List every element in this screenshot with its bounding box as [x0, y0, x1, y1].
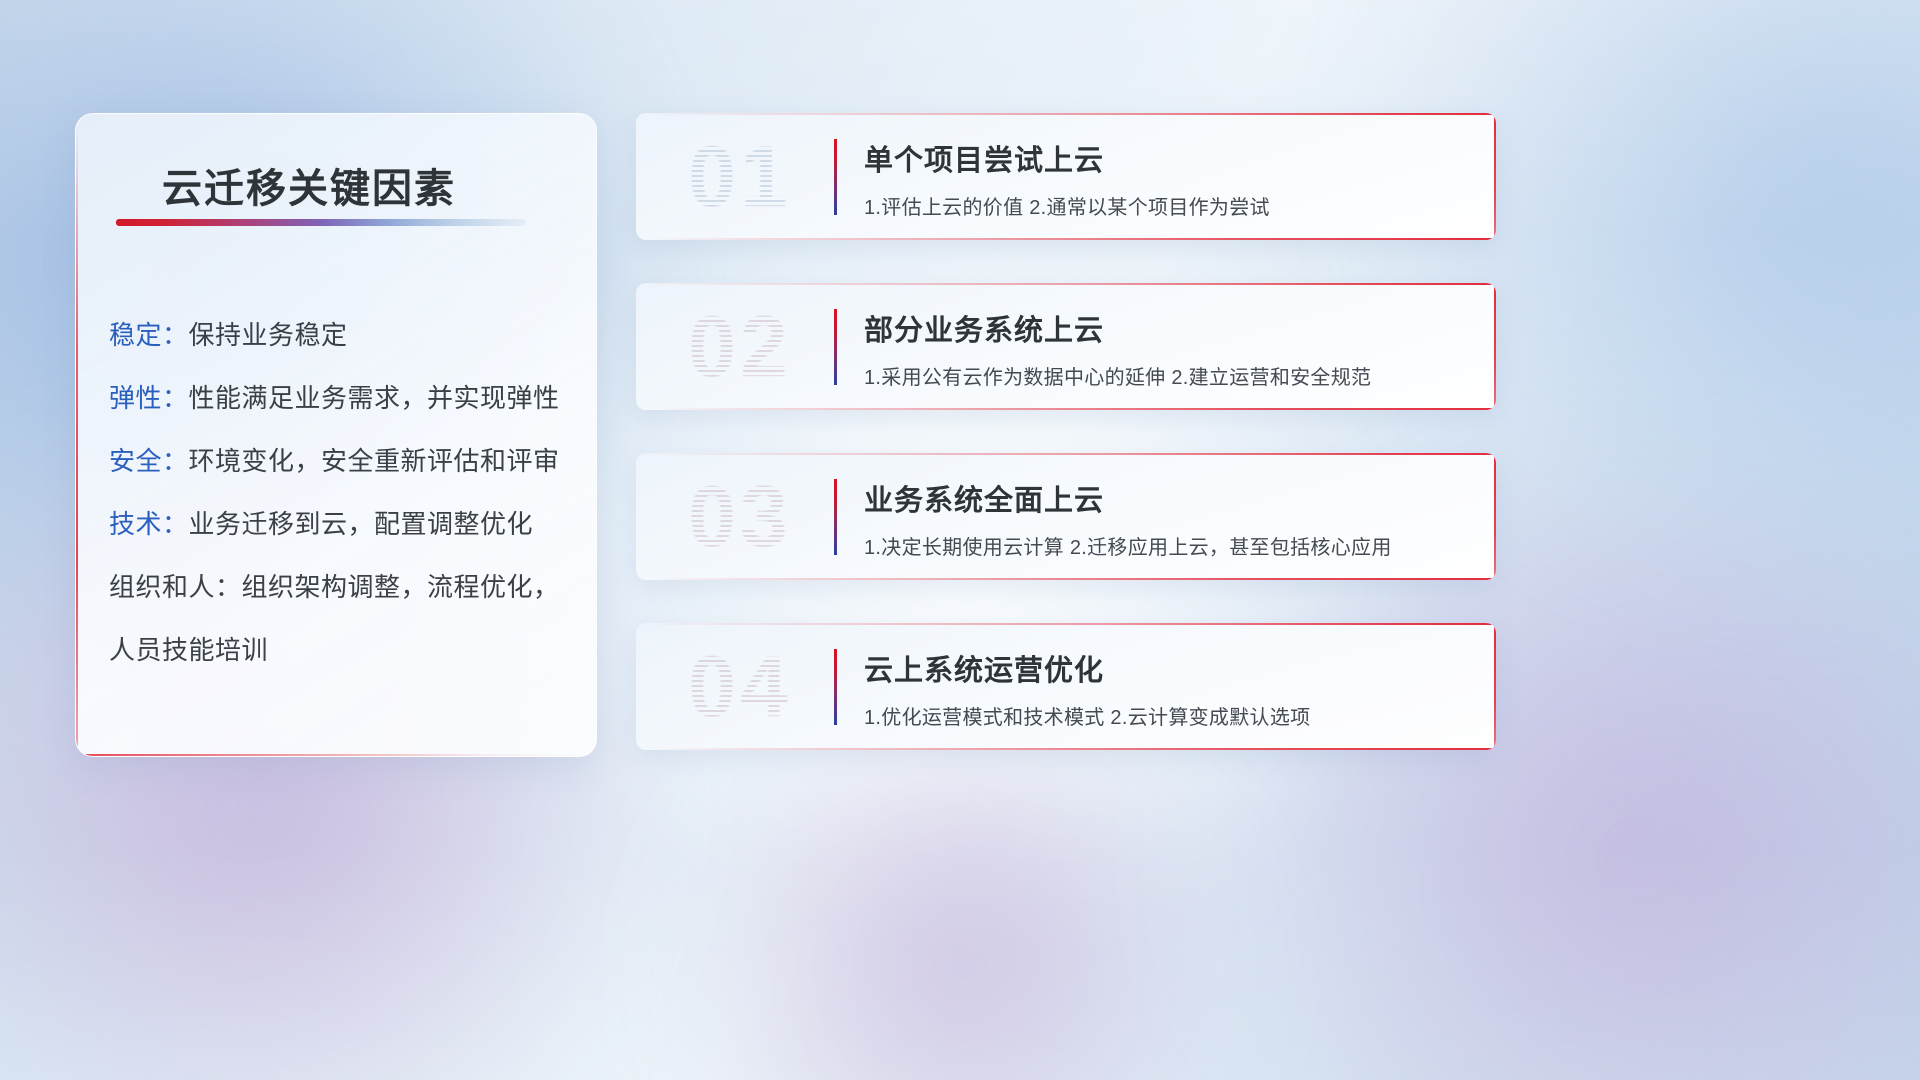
- list-item: 稳定：保持业务稳定: [109, 304, 574, 367]
- card-right-accent-bar: [1494, 283, 1496, 410]
- list-item-key: 组织和人：: [109, 572, 242, 602]
- card-divider-bar: [834, 479, 837, 555]
- stage-card-01[interactable]: 01 单个项目尝试上云 1.评估上云的价值 2.通常以某个项目作为尝试: [636, 113, 1496, 240]
- list-item-key: 技术：: [109, 509, 189, 539]
- key-factors-list: 稳定：保持业务稳定 弹性：性能满足业务需求，并实现弹性 安全：环境变化，安全重新…: [109, 304, 574, 682]
- card-right-accent-bar: [1494, 113, 1496, 240]
- card-title: 云上系统运营优化: [864, 647, 1104, 689]
- stage-card-02[interactable]: 02 部分业务系统上云 1.采用公有云作为数据中心的延伸 2.建立运营和安全规范: [636, 283, 1496, 410]
- card-right-accent-bar: [1494, 623, 1496, 750]
- list-item-value: 业务迁移到云，配置调整优化: [189, 509, 534, 539]
- list-item-key: 稳定：: [109, 320, 189, 350]
- card-divider-bar: [834, 649, 837, 725]
- card-description: 1.评估上云的价值 2.通常以某个项目作为尝试: [864, 191, 1270, 220]
- page-title: 云迁移关键因素: [162, 156, 456, 214]
- card-title: 单个项目尝试上云: [864, 137, 1104, 179]
- card-description: 1.优化运营模式和技术模式 2.云计算变成默认选项: [864, 701, 1310, 730]
- list-item: 技术：业务迁移到云，配置调整优化: [109, 493, 574, 556]
- title-underline-gradient: [116, 219, 526, 226]
- card-right-accent-bar: [1494, 453, 1496, 580]
- list-item-value: 环境变化，安全重新评估和评审: [189, 446, 560, 476]
- list-item-value: 保持业务稳定: [189, 320, 348, 350]
- card-description: 1.决定长期使用云计算 2.迁移应用上云，甚至包括核心应用: [864, 531, 1392, 560]
- card-number-watermark: 04: [660, 635, 820, 739]
- card-bottom-accent-bar: [650, 238, 1496, 240]
- card-divider-bar: [834, 309, 837, 385]
- card-bottom-accent-bar: [650, 578, 1496, 580]
- card-title: 业务系统全面上云: [864, 477, 1104, 519]
- card-bottom-accent-bar: [650, 408, 1496, 410]
- card-number-watermark: 02: [660, 295, 820, 399]
- list-item-value: 性能满足业务需求，并实现弹性: [189, 383, 560, 413]
- panel-left-accent-bar: [76, 124, 78, 746]
- panel-bottom-accent-bar: [84, 754, 588, 756]
- slide-canvas: 云迁移关键因素 稳定：保持业务稳定 弹性：性能满足业务需求，并实现弹性 安全：环…: [0, 0, 1920, 1080]
- list-item-value: 组织架构调整，流程优化，: [242, 572, 560, 602]
- card-title: 部分业务系统上云: [864, 307, 1104, 349]
- card-top-accent-bar: [636, 453, 1496, 455]
- card-number-watermark: 01: [660, 125, 820, 229]
- card-top-accent-bar: [636, 113, 1496, 115]
- list-item-continuation: 人员技能培训: [109, 619, 574, 682]
- card-description: 1.采用公有云作为数据中心的延伸 2.建立运营和安全规范: [864, 361, 1371, 390]
- list-item: 弹性：性能满足业务需求，并实现弹性: [109, 367, 574, 430]
- card-top-accent-bar: [636, 283, 1496, 285]
- list-item-key: 弹性：: [109, 383, 189, 413]
- list-item-key: 安全：: [109, 446, 189, 476]
- list-item: 安全：环境变化，安全重新评估和评审: [109, 430, 574, 493]
- list-item: 组织和人：组织架构调整，流程优化，: [109, 556, 574, 619]
- card-number-watermark: 03: [660, 465, 820, 569]
- key-factors-panel: 云迁移关键因素 稳定：保持业务稳定 弹性：性能满足业务需求，并实现弹性 安全：环…: [75, 113, 597, 757]
- stage-card-04[interactable]: 04 云上系统运营优化 1.优化运营模式和技术模式 2.云计算变成默认选项: [636, 623, 1496, 750]
- stage-cards-list: 01 单个项目尝试上云 1.评估上云的价值 2.通常以某个项目作为尝试 02 部…: [636, 113, 1496, 793]
- card-bottom-accent-bar: [650, 748, 1496, 750]
- card-top-accent-bar: [636, 623, 1496, 625]
- card-divider-bar: [834, 139, 837, 215]
- stage-card-03[interactable]: 03 业务系统全面上云 1.决定长期使用云计算 2.迁移应用上云，甚至包括核心应…: [636, 453, 1496, 580]
